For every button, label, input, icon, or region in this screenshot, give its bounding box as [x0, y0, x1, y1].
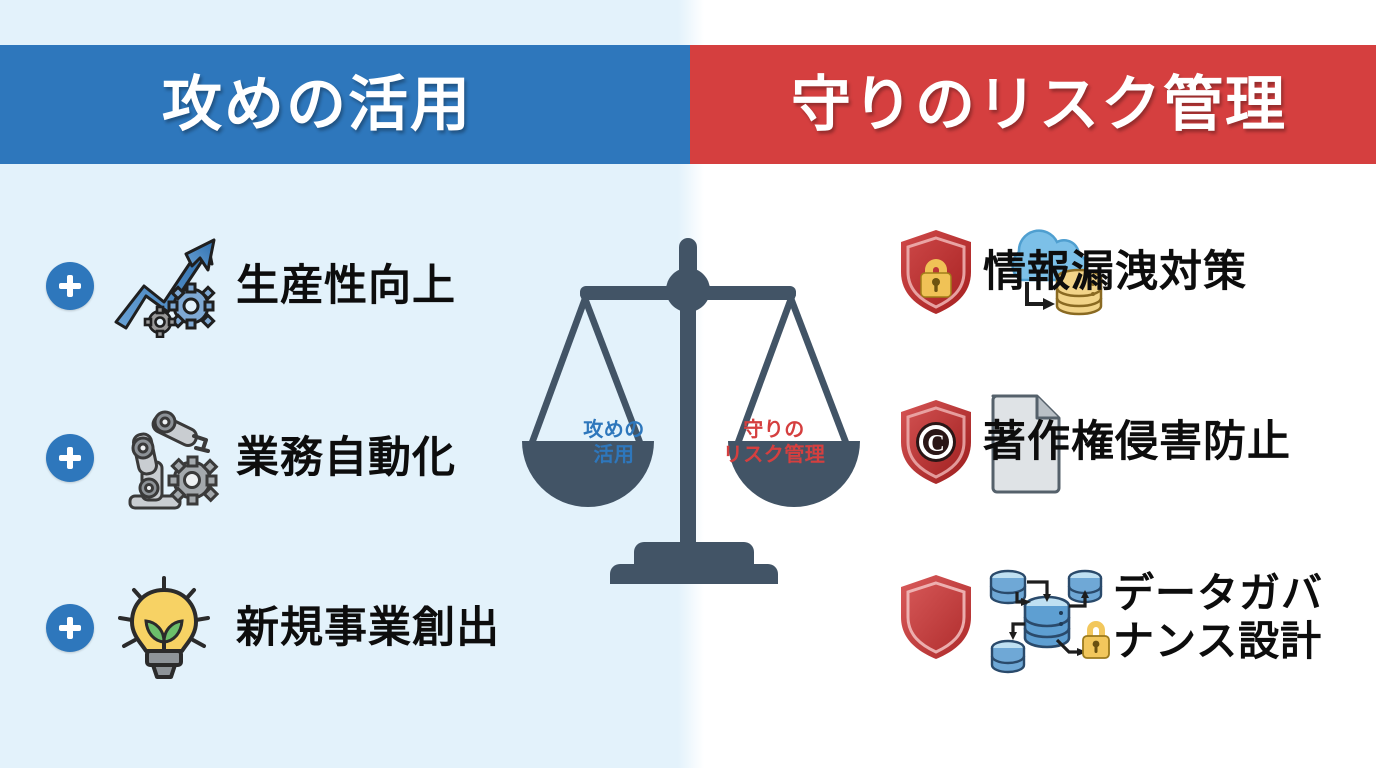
shield-lock-icon [895, 226, 977, 318]
list-item[interactable]: 新規事業創出 [46, 572, 500, 684]
database-network-lock-icon [981, 556, 1111, 678]
list-item-label-line1: データガバ [1113, 569, 1323, 617]
list-item-label: 業務自動化 [236, 434, 456, 482]
lightbulb-sprout-icon [108, 572, 220, 684]
svg-text:C: C [927, 431, 944, 457]
list-item[interactable]: C 著作権侵害防止 [895, 396, 1291, 488]
shield-plain-icon [895, 571, 977, 663]
shield-copyright-icon: C [895, 396, 977, 488]
right-header-title: 守りのリスク管理 [791, 75, 1287, 135]
infographic-canvas: 攻めの活用 守りのリスク管理 [0, 0, 1376, 768]
balance-scale: 攻めの 活用 守りの リスク管理 [516, 236, 860, 604]
plus-circle-icon [46, 604, 94, 652]
list-item[interactable]: データガバ ナンス設計 [895, 556, 1323, 678]
list-item[interactable]: 生産性向上 [46, 234, 456, 338]
scale-right-pan-line2: リスク管理 [694, 443, 854, 468]
list-item-label: 生産性向上 [236, 262, 456, 310]
right-header-bar: 守りのリスク管理 [690, 45, 1376, 164]
list-item-label-line2: ナンス設計 [1113, 617, 1323, 665]
scale-left-pan-line2: 活用 [534, 443, 694, 468]
growth-chart-gears-icon [108, 234, 220, 338]
scale-right-pan-line1: 守りの [694, 418, 854, 443]
list-item-label: 情報漏洩対策 [983, 248, 1247, 296]
scale-left-pan-line1: 攻めの [534, 418, 694, 443]
scale-right-pan-label: 守りの リスク管理 [694, 418, 854, 468]
list-item-label: 著作権侵害防止 [983, 418, 1291, 466]
plus-circle-icon [46, 262, 94, 310]
list-item[interactable]: 情報漏洩対策 [895, 226, 1247, 318]
scale-left-pan-label: 攻めの 活用 [534, 418, 694, 468]
plus-circle-icon [46, 434, 94, 482]
list-item[interactable]: 業務自動化 [46, 404, 456, 512]
left-header-title: 攻めの活用 [162, 75, 472, 135]
left-header-bar: 攻めの活用 [0, 45, 690, 164]
list-item-label: データガバ ナンス設計 [1113, 569, 1323, 666]
robot-arm-gear-icon [108, 404, 220, 512]
list-item-label: 新規事業創出 [236, 604, 500, 652]
